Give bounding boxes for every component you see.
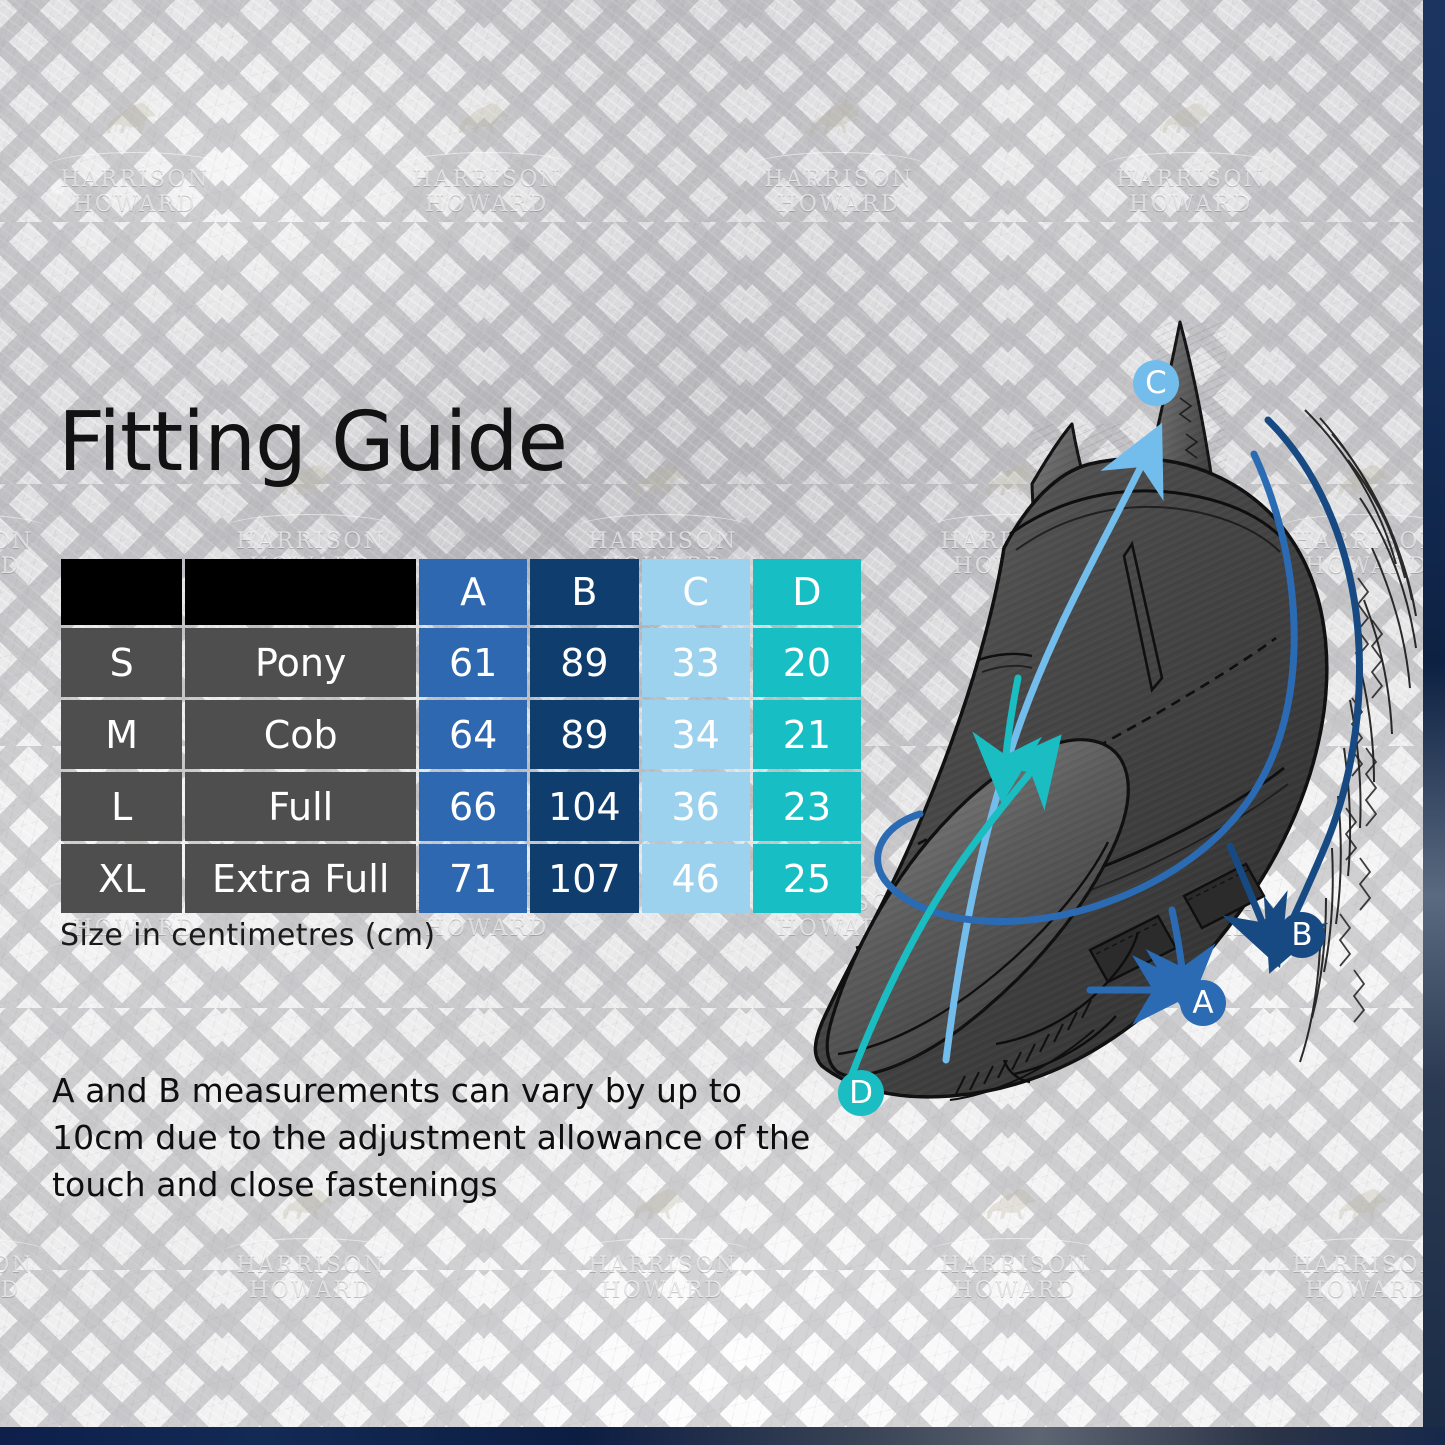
cell-a: 61 (419, 628, 527, 697)
table-header-row: A B C D (61, 559, 861, 625)
cell-name: Pony (185, 628, 416, 697)
cell-size: S (61, 628, 182, 697)
table-row: L Full 66 104 36 23 (61, 772, 861, 841)
cell-b: 89 (530, 628, 638, 697)
measurement-footnote: A and B measurements can vary by up to 1… (52, 1068, 842, 1209)
cell-name: Full (185, 772, 416, 841)
cell-b: 107 (530, 844, 638, 913)
cell-c: 33 (642, 628, 750, 697)
cell-a: 64 (419, 700, 527, 769)
right-edge-strip (1423, 0, 1445, 1445)
header-blank-size (61, 559, 182, 625)
cell-name: Extra Full (185, 844, 416, 913)
table-row: XL Extra Full 71 107 46 25 (61, 844, 861, 913)
marker-c: C (1133, 360, 1179, 406)
header-measure-c: C (642, 559, 750, 625)
header-blank-name (185, 559, 416, 625)
header-measure-b: B (530, 559, 638, 625)
cell-size: XL (61, 844, 182, 913)
size-chart-table: A B C D S Pony 61 89 33 20 M Cob 64 89 3… (58, 556, 864, 916)
cell-size: L (61, 772, 182, 841)
unit-note: Size in centimetres (cm) (60, 918, 436, 953)
table-row: S Pony 61 89 33 20 (61, 628, 861, 697)
header-measure-a: A (419, 559, 527, 625)
fitting-guide-page: HARRISONHOWARDHARRISONHOWARDHARRISONHOWA… (0, 0, 1445, 1445)
bottom-edge-strip (0, 1427, 1445, 1445)
table-row: M Cob 64 89 34 21 (61, 700, 861, 769)
cell-b: 104 (530, 772, 638, 841)
marker-b: B (1279, 912, 1325, 958)
cell-a: 66 (419, 772, 527, 841)
cell-c: 34 (642, 700, 750, 769)
page-title: Fitting Guide (58, 402, 567, 484)
cell-name: Cob (185, 700, 416, 769)
cell-a: 71 (419, 844, 527, 913)
marker-a: A (1180, 980, 1226, 1026)
cell-c: 36 (642, 772, 750, 841)
cell-b: 89 (530, 700, 638, 769)
cell-c: 46 (642, 844, 750, 913)
marker-d: D (838, 1070, 884, 1116)
cell-size: M (61, 700, 182, 769)
horse-fly-mask-illustration (760, 248, 1440, 1128)
